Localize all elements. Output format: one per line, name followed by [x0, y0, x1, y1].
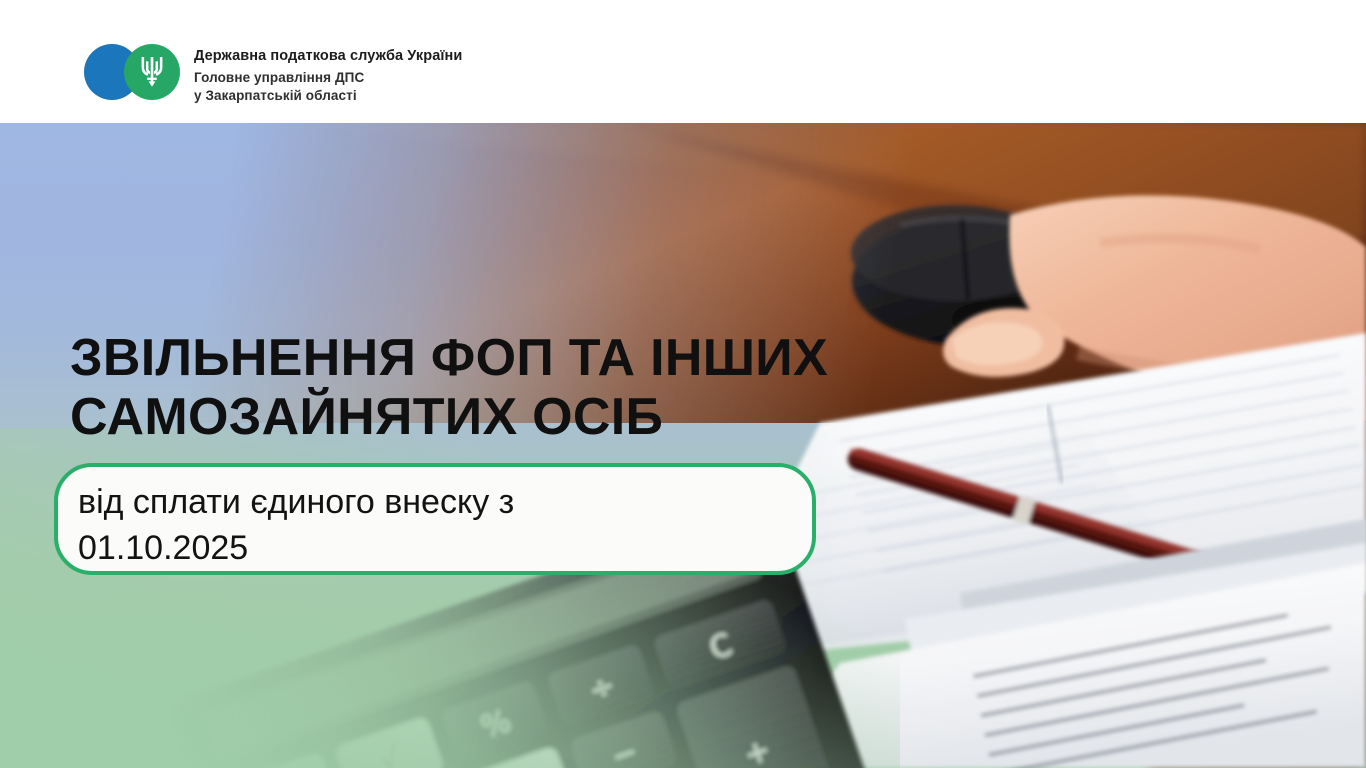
logo-title-line-3: у Закарпатській області — [194, 87, 462, 105]
logo-marks — [84, 44, 180, 100]
headline-line-2: САМОЗАЙНЯТИХ ОСІБ — [70, 388, 870, 447]
subtitle-line-2: 01.10.2025 — [78, 526, 778, 572]
header-band: Державна податкова служба України Головн… — [0, 0, 1366, 123]
subtitle-pill: від сплати єдиного внеску з 01.10.2025 — [54, 463, 816, 575]
headline-line-1: ЗВІЛЬНЕННЯ ФОП ТА ІНШИХ — [70, 329, 870, 388]
banner-stage: % ÷ C − + M √ 7 8 9 4 — [0, 123, 1366, 768]
subtitle-text: від сплати єдиного внеску з 01.10.2025 — [78, 480, 778, 571]
logo-text-block: Державна податкова служба України Головн… — [194, 44, 462, 105]
ukrainian-trident-tryzub-icon — [140, 55, 164, 88]
page-title: ЗВІЛЬНЕННЯ ФОП ТА ІНШИХ САМОЗАЙНЯТИХ ОСІ… — [70, 329, 870, 447]
logo-title-line-2: Головне управління ДПС — [194, 69, 462, 87]
organization-logo[interactable]: Державна податкова служба України Головн… — [84, 44, 462, 105]
tax-service-announcement-banner: % ÷ C − + M √ 7 8 9 4 — [0, 0, 1366, 768]
subtitle-line-1: від сплати єдиного внеску з — [78, 480, 778, 526]
logo-title-line-1: Державна податкова служба України — [194, 47, 462, 65]
